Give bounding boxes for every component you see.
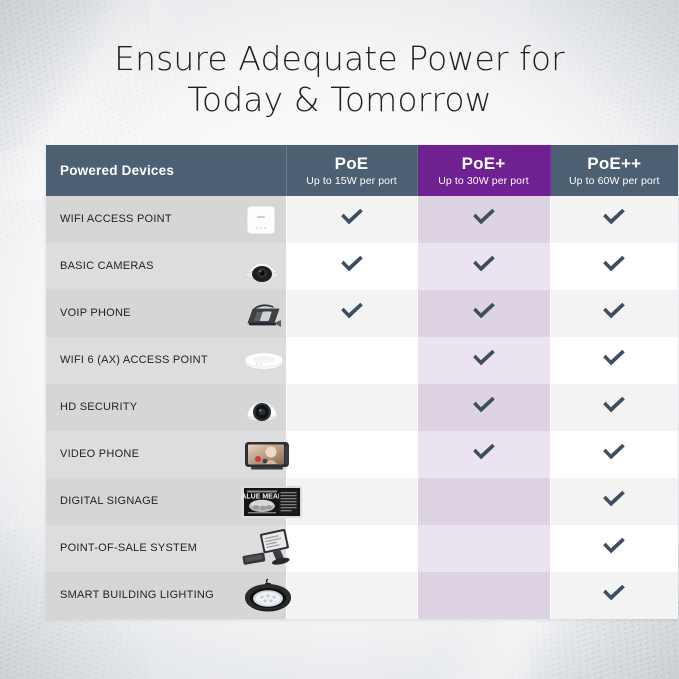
poe-comparison-table-container: Powered Devices PoE Up to 15W per port P… <box>46 145 633 628</box>
checkmark-icon <box>339 207 365 227</box>
table-row: DIGITAL SIGNAGEVALUE MEALS <box>46 478 678 525</box>
table-row: BASIC CAMERAS <box>46 243 678 290</box>
support-cell-poe-plus <box>417 384 550 431</box>
table-row: HD SECURITY <box>46 384 678 431</box>
checkmark-icon <box>471 207 497 227</box>
tier-name-poe: PoE <box>287 154 417 173</box>
device-name-cell: WIFI 6 (AX) ACCESS POINT <box>46 337 241 384</box>
device-image-cell <box>241 337 286 384</box>
device-image-cell <box>241 196 286 243</box>
page-title: Ensure Adequate Power for Today & Tomorr… <box>0 38 679 120</box>
table-row: VIDEO PHONE <box>46 431 678 478</box>
column-header-poe: PoE Up to 15W per port <box>286 145 417 196</box>
tier-name-poe-plus: PoE+ <box>418 154 550 173</box>
support-cell-poe-plus-plus <box>550 384 678 431</box>
tier-subtitle-poe: Up to 15W per port <box>287 174 417 188</box>
support-cell-poe-plus-plus <box>550 243 678 290</box>
checkmark-icon <box>601 536 627 556</box>
turret-camera-image <box>241 391 283 425</box>
checkmark-icon <box>471 254 497 274</box>
support-cell-poe-plus-plus <box>550 290 678 337</box>
support-cell-poe-plus <box>417 525 550 572</box>
support-cell-poe <box>286 196 417 243</box>
device-name-cell: POINT-OF-SALE SYSTEM <box>46 525 241 572</box>
checkmark-icon <box>471 348 497 368</box>
support-cell-poe <box>286 290 417 337</box>
support-cell-poe-plus <box>417 478 550 525</box>
device-name-cell: VIDEO PHONE <box>46 431 241 478</box>
device-name-cell: HD SECURITY <box>46 384 241 431</box>
tier-subtitle-poe-plus-plus: Up to 60W per port <box>551 174 679 188</box>
checkmark-icon <box>471 301 497 321</box>
high-bay-light-image <box>241 577 295 615</box>
checkmark-icon <box>601 254 627 274</box>
column-header-poe-plus: PoE+ Up to 30W per port <box>417 145 550 196</box>
wifi-access-point-image <box>241 203 281 237</box>
support-cell-poe <box>286 572 417 619</box>
support-cell-poe-plus-plus <box>550 572 678 619</box>
table-row: VOIP PHONE <box>46 290 678 337</box>
device-image-cell: VALUE MEALS <box>241 478 286 525</box>
page-title-line-2: Today & Tomorrow <box>0 79 679 120</box>
device-image-cell <box>241 431 286 478</box>
support-cell-poe-plus <box>417 243 550 290</box>
device-image-cell <box>241 290 286 337</box>
support-cell-poe-plus <box>417 572 550 619</box>
page-title-line-1: Ensure Adequate Power for <box>0 38 679 79</box>
support-cell-poe <box>286 337 417 384</box>
column-header-poe-plus-plus: PoE++ Up to 60W per port <box>550 145 678 196</box>
support-cell-poe <box>286 478 417 525</box>
table-body: WIFI ACCESS POINTBASIC CAMERASVOIP PHONE… <box>46 196 678 619</box>
support-cell-poe-plus-plus <box>550 478 678 525</box>
device-image-cell <box>241 243 286 290</box>
desk-phone-image <box>241 297 287 331</box>
checkmark-icon <box>601 348 627 368</box>
table-row: WIFI ACCESS POINT <box>46 196 678 243</box>
checkmark-icon <box>471 442 497 462</box>
device-name-cell: VOIP PHONE <box>46 290 241 337</box>
device-image-cell <box>241 525 286 572</box>
support-cell-poe-plus-plus <box>550 196 678 243</box>
table-row: POINT-OF-SALE SYSTEM <box>46 525 678 572</box>
tier-subtitle-poe-plus: Up to 30W per port <box>418 174 550 188</box>
support-cell-poe-plus <box>417 196 550 243</box>
digital-signage-image: VALUE MEALS <box>241 484 303 520</box>
checkmark-icon <box>339 301 365 321</box>
device-name-cell: SMART BUILDING LIGHTING <box>46 572 241 619</box>
checkmark-icon <box>601 489 627 509</box>
column-header-powered-devices: Powered Devices <box>46 145 286 196</box>
support-cell-poe <box>286 431 417 478</box>
table-header-row: Powered Devices PoE Up to 15W per port P… <box>46 145 678 196</box>
table-row: SMART BUILDING LIGHTING <box>46 572 678 619</box>
device-image-cell <box>241 384 286 431</box>
support-cell-poe-plus <box>417 431 550 478</box>
dome-camera-image <box>241 250 283 284</box>
support-cell-poe-plus-plus <box>550 525 678 572</box>
pos-terminal-image <box>241 529 295 569</box>
device-name-cell: DIGITAL SIGNAGE <box>46 478 241 525</box>
checkmark-icon <box>601 207 627 227</box>
support-cell-poe <box>286 243 417 290</box>
checkmark-icon <box>339 254 365 274</box>
table-row: WIFI 6 (AX) ACCESS POINT <box>46 337 678 384</box>
checkmark-icon <box>601 442 627 462</box>
tier-name-poe-plus-plus: PoE++ <box>551 154 679 173</box>
wifi6-access-point-image <box>241 346 287 376</box>
checkmark-icon <box>601 583 627 603</box>
checkmark-icon <box>601 301 627 321</box>
device-image-cell <box>241 572 286 619</box>
checkmark-icon <box>601 395 627 415</box>
support-cell-poe-plus <box>417 337 550 384</box>
table-header: Powered Devices PoE Up to 15W per port P… <box>46 145 678 196</box>
support-cell-poe-plus-plus <box>550 431 678 478</box>
device-name-cell: BASIC CAMERAS <box>46 243 241 290</box>
support-cell-poe <box>286 525 417 572</box>
poe-comparison-table: Powered Devices PoE Up to 15W per port P… <box>46 145 678 619</box>
support-cell-poe-plus-plus <box>550 337 678 384</box>
support-cell-poe <box>286 384 417 431</box>
video-phone-image <box>241 438 293 472</box>
support-cell-poe-plus <box>417 290 550 337</box>
device-name-cell: WIFI ACCESS POINT <box>46 196 241 243</box>
checkmark-icon <box>471 395 497 415</box>
